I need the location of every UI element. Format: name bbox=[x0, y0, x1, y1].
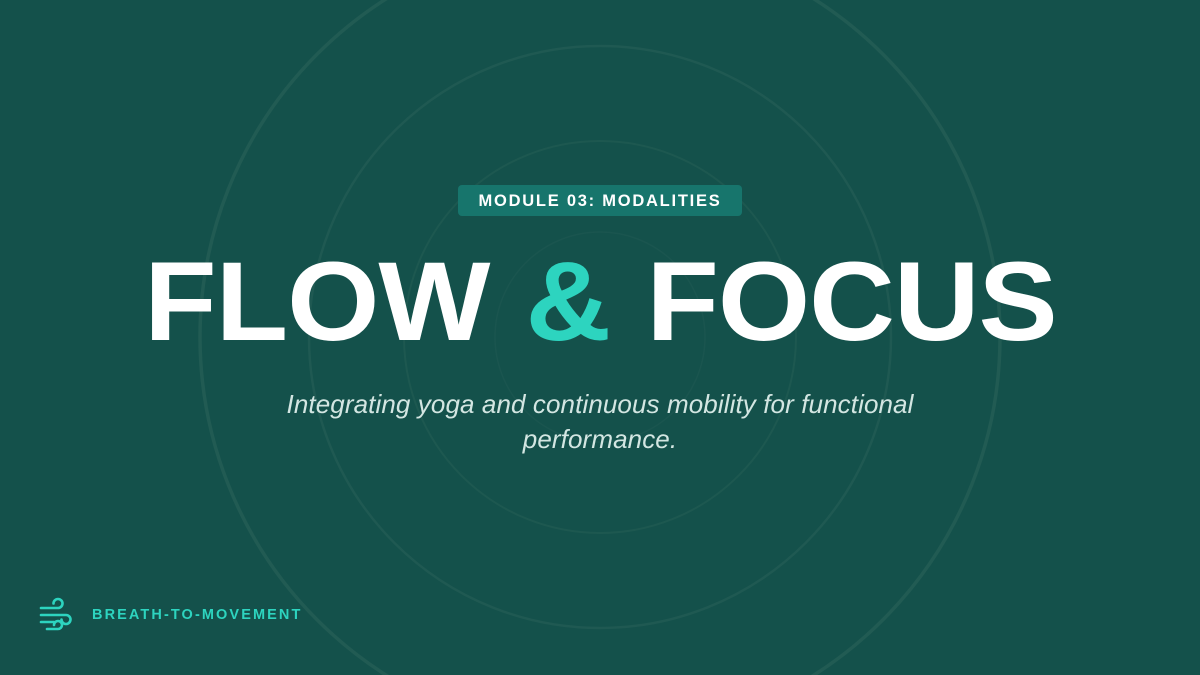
module-eyebrow-badge: MODULE 03: MODALITIES bbox=[458, 185, 741, 217]
title-part-one: FLOW bbox=[144, 239, 489, 364]
slide-subtitle: Integrating yoga and continuous mobility… bbox=[264, 387, 936, 456]
brand-lockup: BREATH-TO-MOVEMENT bbox=[38, 597, 302, 633]
title-part-two: FOCUS bbox=[646, 239, 1056, 364]
brand-name: BREATH-TO-MOVEMENT bbox=[92, 608, 302, 623]
slide-content: MODULE 03: MODALITIES FLOW & FOCUS Integ… bbox=[0, 0, 1200, 675]
title-ampersand: & bbox=[521, 239, 614, 364]
wind-icon bbox=[38, 597, 78, 633]
presentation-slide: MODULE 03: MODALITIES FLOW & FOCUS Integ… bbox=[0, 0, 1200, 675]
page-title: FLOW & FOCUS bbox=[144, 250, 1056, 353]
